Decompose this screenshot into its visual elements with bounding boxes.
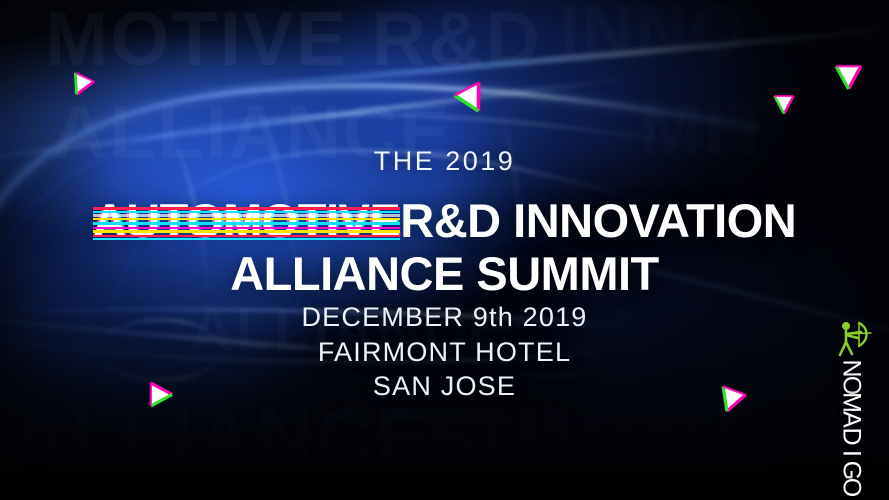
nomadigo-wordmark: N O M A D I G O — [825, 360, 883, 496]
glitch-word-automotive: AUTOMOTIVE AUTOMOTIVE AUTOMOTIVE AUTOMOT… — [93, 193, 400, 248]
poster-canvas: MOTIVE R&D INNO ALLIANCE MIT ALLIANCE AL… — [0, 0, 889, 500]
nomadigo-logo[interactable]: N O M A D I G O — [825, 318, 883, 496]
logo-letter: O — [846, 459, 863, 500]
triangle-bottom-right — [712, 381, 750, 419]
triangle-decorations — [0, 0, 889, 500]
triangle-top-left — [64, 68, 99, 103]
triangle-top-mid — [449, 76, 495, 122]
triangle-top-right-2 — [833, 61, 864, 92]
triangle-top-right-1 — [772, 92, 796, 116]
triangle-bottom-left — [146, 380, 175, 409]
